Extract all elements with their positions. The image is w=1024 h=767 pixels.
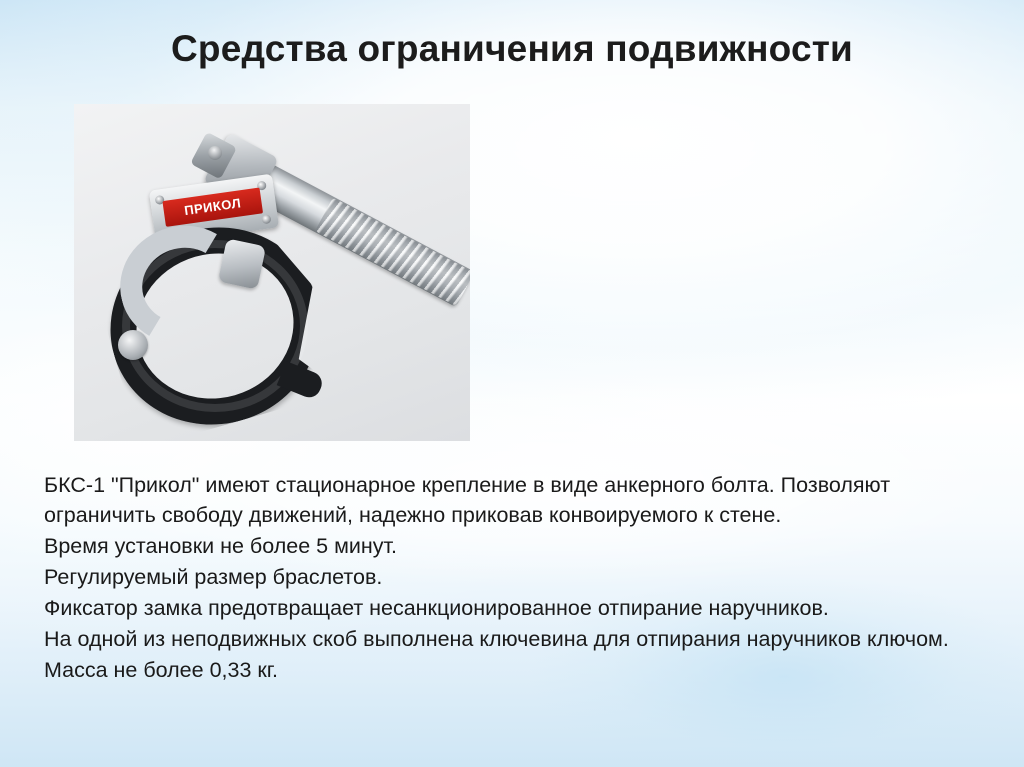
slide-canvas: Средства ограничения подвижности ПРИКОЛ xyxy=(0,0,1024,767)
body-paragraph: Регулируемый размер браслетов. xyxy=(44,562,988,592)
body-paragraph: БКС-1 "Прикол" имеют стационарное крепле… xyxy=(44,470,988,530)
body-paragraph: Масса не более 0,33 кг. xyxy=(44,655,988,685)
slide-body-text: БКС-1 "Прикол" имеют стационарное крепле… xyxy=(44,470,988,686)
page-title: Средства ограничения подвижности xyxy=(0,28,1024,70)
body-paragraph: На одной из неподвижных скоб выполнена к… xyxy=(44,624,988,654)
product-brand-label: ПРИКОЛ xyxy=(162,187,263,226)
handcuff-anchor-bolt-photo: ПРИКОЛ xyxy=(74,104,470,441)
body-paragraph: Фиксатор замка предотвращает несанкциони… xyxy=(44,593,988,623)
cuff-pivot-rivet xyxy=(118,330,148,360)
body-paragraph: Время установки не более 5 минут. xyxy=(44,531,988,561)
handcuff-bracelet xyxy=(102,222,342,428)
